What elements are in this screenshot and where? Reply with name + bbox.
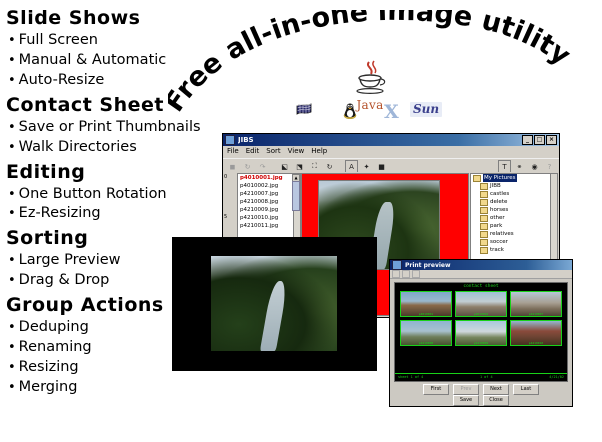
- bullet-icon: •: [8, 140, 16, 155]
- tree-item-label: park: [490, 222, 502, 230]
- folder-icon: [480, 247, 488, 254]
- feature-item-label: Save or Print Thumbnails: [19, 119, 201, 135]
- feature-item-label: Deduping: [19, 319, 89, 335]
- feature-item-label: One Button Rotation: [19, 186, 167, 202]
- feature-item: •Save or Print Thumbnails: [8, 119, 219, 136]
- feature-heading-contact-sheet: Contact Sheet: [6, 96, 219, 116]
- sun-icon: Sun: [410, 102, 442, 117]
- file-list-item[interactable]: p4210008.jpg: [238, 198, 300, 206]
- tree-item[interactable]: other: [471, 214, 557, 222]
- thumbnail-cell[interactable]: p4210007: [510, 291, 562, 317]
- bullet-icon: •: [8, 253, 16, 268]
- page-setup-icon[interactable]: [392, 270, 400, 278]
- menu-bar: File Edit Sort View Help: [223, 146, 559, 158]
- previous-page-button[interactable]: Prev: [453, 384, 479, 395]
- feature-item-label: Merging: [19, 379, 78, 395]
- tree-item-label: My Pictures: [483, 174, 517, 182]
- feature-item-label: Full Screen: [19, 32, 98, 48]
- window-titlebar[interactable]: JIBS _ □ ×: [223, 134, 559, 146]
- tree-item[interactable]: relatives: [471, 230, 557, 238]
- sheet-footer-left: sheet 1 of 4: [398, 374, 423, 381]
- print-preview-window: Print preview contact sheet p4010001 p40…: [389, 259, 573, 407]
- folder-icon: [473, 175, 481, 182]
- navigation-button-row: First Prev Next Last: [390, 384, 572, 395]
- scrollbar-thumb[interactable]: [292, 181, 300, 211]
- thumbnail-caption: p4210009: [456, 341, 506, 345]
- tree-item-label: soccer: [490, 238, 508, 246]
- bullet-icon: •: [8, 320, 16, 335]
- bullet-icon: •: [8, 53, 16, 68]
- thumbnail-cell[interactable]: p4010001: [400, 291, 452, 317]
- linux-penguin-icon: [342, 102, 358, 124]
- file-list-item[interactable]: p4010001.jpg: [238, 174, 300, 182]
- file-list-item[interactable]: p4210011.jpg: [238, 222, 300, 230]
- bullet-icon: •: [8, 187, 16, 202]
- close-button[interactable]: ×: [546, 135, 557, 145]
- poster-canvas: Slide Shows •Full Screen •Manual & Autom…: [0, 0, 602, 442]
- feature-item: •Manual & Automatic: [8, 52, 219, 69]
- print-preview-titlebar[interactable]: Print preview: [390, 260, 572, 270]
- sheet-footer-right: 4/21/02: [549, 374, 564, 381]
- window-controls: _ □ ×: [522, 135, 557, 145]
- file-list-item[interactable]: p4210007.jpg: [238, 190, 300, 198]
- print-preview-toolbar: [390, 270, 572, 279]
- feature-item: •Merging: [8, 379, 219, 396]
- bullet-icon: •: [8, 273, 16, 288]
- thumbnail-caption: p4210010: [511, 341, 561, 345]
- menu-item-file[interactable]: File: [227, 147, 239, 158]
- tree-item[interactable]: horses: [471, 206, 557, 214]
- tree-item-label: JIBB: [490, 182, 501, 190]
- os-icon-row: X Sun: [292, 102, 432, 126]
- windows-icon: [296, 102, 313, 122]
- next-page-button[interactable]: Next: [483, 384, 509, 395]
- feature-item-label: Manual & Automatic: [19, 52, 167, 68]
- first-page-button[interactable]: First: [423, 384, 449, 395]
- print-preview-title: Print preview: [405, 262, 570, 269]
- file-list-item[interactable]: p4210009.jpg: [238, 206, 300, 214]
- contact-sheet-page: contact sheet p4010001 p4010002 p4210007…: [394, 282, 568, 382]
- feature-heading-editing: Editing: [6, 163, 219, 183]
- platform-logos: Java: [292, 58, 432, 128]
- last-page-button[interactable]: Last: [513, 384, 539, 395]
- feature-item: •Walk Directories: [8, 139, 219, 156]
- file-list-item[interactable]: p4010002.jpg: [238, 182, 300, 190]
- thumbnail-grid: p4010001 p4010002 p4210007 p4210008 p421…: [395, 290, 567, 347]
- tree-item[interactable]: park: [471, 222, 557, 230]
- action-button-row: Save Close: [390, 395, 572, 406]
- thumbnail-caption: p4010001: [401, 312, 451, 316]
- feature-item: •Full Screen: [8, 32, 219, 49]
- thumbnail-caption: p4210008: [401, 341, 451, 345]
- close-button[interactable]: Close: [483, 395, 509, 406]
- print-icon[interactable]: [402, 270, 410, 278]
- thumbnail-caption: p4010002: [456, 312, 506, 316]
- contact-sheet-heading: contact sheet: [395, 283, 567, 290]
- feature-item-label: Drag & Drop: [19, 272, 110, 288]
- bullet-icon: •: [8, 73, 16, 88]
- contact-sheet-footer: sheet 1 of 4 1 of 4 4/21/02: [395, 373, 567, 381]
- ruler-mark: 5: [224, 214, 227, 220]
- slideshow-preview[interactable]: [172, 237, 377, 371]
- thumbnail-cell[interactable]: p4210008: [400, 320, 452, 346]
- tree-item-root[interactable]: My Pictures: [471, 174, 557, 182]
- feature-heading-slide-shows: Slide Shows: [6, 9, 219, 29]
- menu-item-sort[interactable]: Sort: [266, 147, 280, 158]
- folder-icon: [480, 199, 488, 206]
- thumbnail-cell[interactable]: p4210010: [510, 320, 562, 346]
- x11-icon: X: [384, 102, 399, 122]
- tree-item-label: castles: [490, 190, 509, 198]
- app-icon: [225, 135, 235, 145]
- folder-icon: [480, 231, 488, 238]
- slideshow-photo: [211, 256, 337, 351]
- maximize-button[interactable]: □: [534, 135, 545, 145]
- thumbnail-caption: p4210007: [511, 312, 561, 316]
- tree-item-label: horses: [490, 206, 508, 214]
- bullet-icon: •: [8, 120, 16, 135]
- thumbnail-cell[interactable]: p4010002: [455, 291, 507, 317]
- bullet-icon: •: [8, 360, 16, 375]
- java-coffee-cup-icon: [347, 58, 393, 102]
- folder-icon: [480, 215, 488, 222]
- feature-item: •One Button Rotation: [8, 186, 219, 203]
- folder-icon: [480, 191, 488, 198]
- feature-item: •Auto-Resize: [8, 72, 219, 89]
- menu-item-edit[interactable]: Edit: [246, 147, 260, 158]
- feature-item-label: Ez-Resizing: [19, 205, 101, 221]
- folder-icon: [480, 207, 488, 214]
- file-list-item[interactable]: p4210010.jpg: [238, 214, 300, 222]
- tree-item[interactable]: castles: [471, 190, 557, 198]
- folder-icon: [480, 183, 488, 190]
- menu-item-view[interactable]: View: [288, 147, 305, 158]
- feature-item-label: Auto-Resize: [19, 72, 105, 88]
- ruler-mark: 0: [224, 174, 227, 180]
- tree-item[interactable]: track: [471, 246, 557, 254]
- bullet-icon: •: [8, 340, 16, 355]
- photo-river-detail: [260, 281, 289, 351]
- tree-item-label: other: [490, 214, 505, 222]
- feature-item-label: Large Preview: [19, 252, 121, 268]
- feature-item-label: Resizing: [19, 359, 79, 375]
- tree-item-label: delete: [490, 198, 507, 206]
- zoom-icon[interactable]: [412, 270, 420, 278]
- tree-item[interactable]: soccer: [471, 238, 557, 246]
- tree-item[interactable]: delete: [471, 198, 557, 206]
- folder-icon: [480, 223, 488, 230]
- window-title: JIBS: [238, 136, 522, 144]
- tree-item-label: relatives: [490, 230, 514, 238]
- feature-item-label: Renaming: [19, 339, 92, 355]
- thumbnail-cell[interactable]: p4210009: [455, 320, 507, 346]
- bullet-icon: •: [8, 380, 16, 395]
- save-button[interactable]: Save: [453, 395, 479, 406]
- bullet-icon: •: [8, 33, 16, 48]
- tree-item-label: track: [490, 246, 504, 254]
- feature-item-label: Walk Directories: [19, 139, 137, 155]
- tree-item[interactable]: JIBB: [471, 182, 557, 190]
- bullet-icon: •: [8, 206, 16, 221]
- folder-icon: [480, 239, 488, 246]
- app-icon: [392, 260, 402, 270]
- minimize-button[interactable]: _: [522, 135, 533, 145]
- sheet-footer-center: 1 of 4: [480, 374, 493, 381]
- feature-item: •Ez-Resizing: [8, 205, 219, 222]
- menu-item-help[interactable]: Help: [311, 147, 327, 158]
